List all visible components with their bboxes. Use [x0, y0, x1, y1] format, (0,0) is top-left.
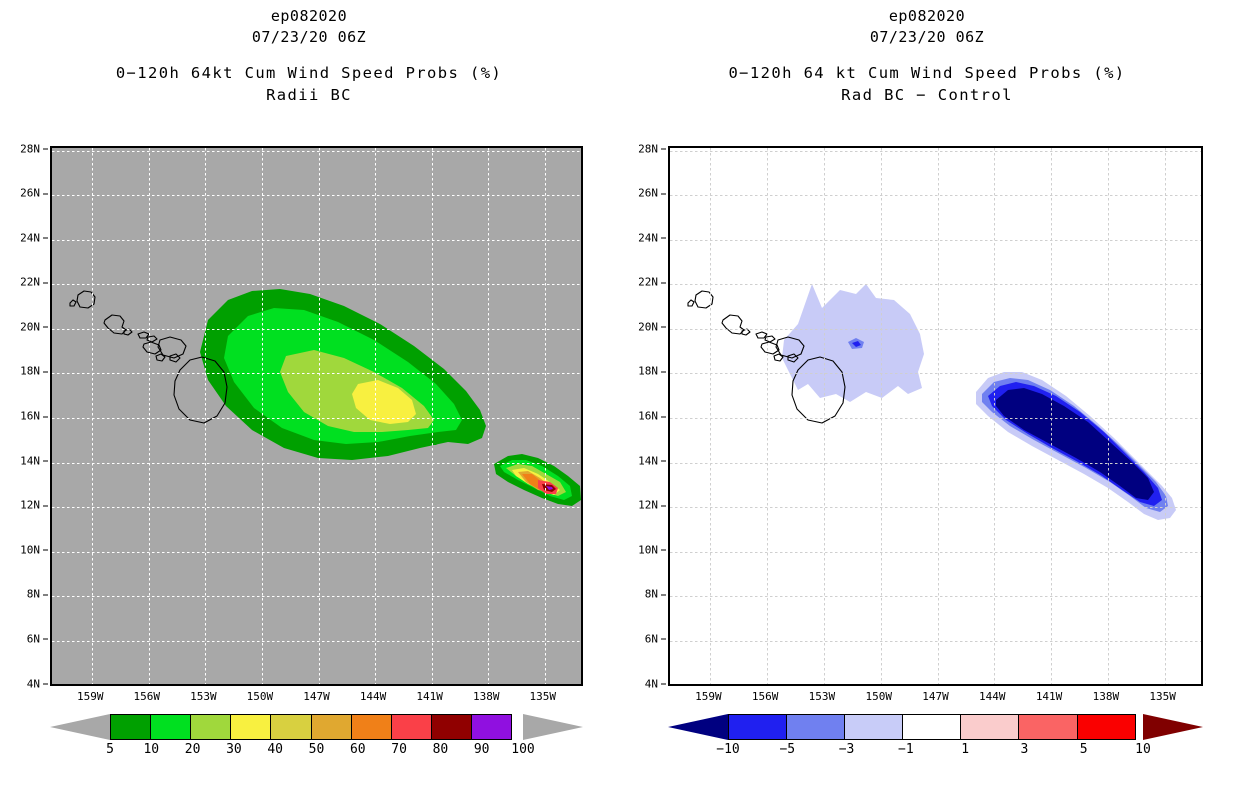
colorbar-swatch[interactable]	[230, 714, 271, 740]
left-storm-id: ep082020	[0, 6, 618, 27]
colorbar-over-arrow	[523, 714, 583, 740]
gridline-horizontal	[670, 686, 1201, 687]
y-axis-tick-label: 8N	[622, 588, 666, 601]
gridline-horizontal	[52, 641, 581, 642]
right-panel-titles: ep082020 07/23/20 06Z 0−120h 64 kt Cum W…	[618, 6, 1236, 106]
colorbar-tick-label: −1	[898, 742, 914, 757]
y-axis-tick-label: 8N	[4, 588, 48, 601]
colorbar-swatch[interactable]	[786, 714, 845, 740]
colorbar-tick-label: 5	[1080, 742, 1088, 757]
colorbar-swatch[interactable]	[902, 714, 961, 740]
gridline-horizontal	[52, 686, 581, 687]
y-axis-tick-label: 6N	[4, 632, 48, 645]
x-axis-tick-label: 150W	[247, 690, 274, 703]
colorbar-swatch[interactable]	[311, 714, 352, 740]
gridline-horizontal	[52, 552, 581, 553]
colorbar-under-arrow	[668, 714, 728, 740]
colorbar-under-arrow	[50, 714, 110, 740]
gridline-vertical	[92, 148, 93, 684]
y-axis-tick-label: 18N	[4, 365, 48, 378]
right-heading: 0−120h 64 kt Cum Wind Speed Probs (%)	[618, 62, 1236, 84]
x-axis-tick-label: 138W	[473, 690, 500, 703]
colorbar-swatch[interactable]	[1077, 714, 1136, 740]
y-axis-tick-label: 22N	[622, 276, 666, 289]
gridline-vertical	[767, 148, 768, 684]
gridline-vertical	[824, 148, 825, 684]
gridline-horizontal	[670, 507, 1201, 508]
x-axis-tick-label: 135W	[530, 690, 557, 703]
panel-radii-bc: ep082020 07/23/20 06Z 0−120h 64kt Cum Wi…	[0, 0, 618, 800]
gridline-horizontal	[52, 151, 581, 152]
colorbar-swatch[interactable]	[351, 714, 392, 740]
gridline-vertical	[994, 148, 995, 684]
gridline-horizontal	[670, 596, 1201, 597]
y-axis-tick-label: 24N	[622, 231, 666, 244]
colorbar-tick-label: 5	[106, 742, 114, 757]
gridline-vertical	[205, 148, 206, 684]
y-axis-tick-label: 16N	[622, 410, 666, 423]
colorbar-tick-label: 3	[1021, 742, 1029, 757]
colorbar-tick-label: 70	[391, 742, 407, 757]
gridline-vertical	[488, 148, 489, 684]
colorbar-swatch[interactable]	[728, 714, 787, 740]
y-axis-tick-label: 20N	[4, 320, 48, 333]
left-colorbar[interactable]: 5102030405060708090100	[50, 714, 583, 774]
colorbar-swatch[interactable]	[471, 714, 512, 740]
y-axis-tick-label: 26N	[622, 187, 666, 200]
gridline-horizontal	[52, 195, 581, 196]
right-map-plot-area[interactable]	[668, 146, 1203, 686]
x-axis-tick-label: 156W	[752, 690, 779, 703]
gridline-horizontal	[52, 284, 581, 285]
colorbar-tick-label: 90	[474, 742, 490, 757]
colorbar-tick-label: 20	[185, 742, 201, 757]
y-axis-tick-label: 4N	[4, 677, 48, 690]
x-axis-tick-label: 147W	[922, 690, 949, 703]
colorbar-tick-label: 60	[350, 742, 366, 757]
gridline-vertical	[1165, 148, 1166, 684]
colorbar-tick-label: 50	[309, 742, 325, 757]
y-axis-tick-label: 4N	[622, 677, 666, 690]
left-datetime: 07/23/20 06Z	[0, 27, 618, 48]
y-axis-tick-label: 12N	[4, 499, 48, 512]
left-map-plot-area[interactable]	[50, 146, 583, 686]
y-axis-tick-label: 12N	[622, 499, 666, 512]
x-axis-tick-label: 141W	[416, 690, 443, 703]
colorbar-swatch[interactable]	[1018, 714, 1077, 740]
left-panel-titles: ep082020 07/23/20 06Z 0−120h 64kt Cum Wi…	[0, 6, 618, 106]
gridline-horizontal	[52, 463, 581, 464]
colorbar-tick-label: −10	[716, 742, 739, 757]
colorbar-tick-label: −5	[779, 742, 795, 757]
panel-rad-bc-control: ep082020 07/23/20 06Z 0−120h 64 kt Cum W…	[618, 0, 1236, 800]
gridline-horizontal	[670, 240, 1201, 241]
colorbar-over-arrow	[1143, 714, 1203, 740]
x-axis-tick-label: 135W	[1149, 690, 1176, 703]
x-axis-tick-label: 153W	[809, 690, 836, 703]
y-axis-tick-label: 18N	[622, 365, 666, 378]
gridline-horizontal	[52, 507, 581, 508]
right-colorbar[interactable]: −10−5−3−113510	[668, 714, 1203, 774]
colorbar-swatch[interactable]	[431, 714, 472, 740]
y-axis-tick-label: 10N	[4, 543, 48, 556]
colorbar-tick-label: 1	[961, 742, 969, 757]
y-axis-tick-label: 24N	[4, 231, 48, 244]
colorbar-tick-label: 40	[267, 742, 283, 757]
gridline-horizontal	[670, 641, 1201, 642]
x-axis-tick-label: 153W	[190, 690, 217, 703]
colorbar-swatch[interactable]	[270, 714, 311, 740]
gridline-vertical	[1108, 148, 1109, 684]
x-axis-tick-label: 156W	[134, 690, 161, 703]
colorbar-tick-label: 80	[433, 742, 449, 757]
colorbar-swatch[interactable]	[391, 714, 432, 740]
left-contour-layer	[52, 148, 581, 684]
x-axis-tick-label: 159W	[695, 690, 722, 703]
colorbar-swatches[interactable]	[110, 714, 523, 740]
right-storm-id: ep082020	[618, 6, 1236, 27]
gridline-vertical	[375, 148, 376, 684]
y-axis-tick-label: 14N	[4, 454, 48, 467]
x-axis-tick-label: 144W	[979, 690, 1006, 703]
gridline-horizontal	[670, 151, 1201, 152]
right-datetime: 07/23/20 06Z	[618, 27, 1236, 48]
colorbar-tick-label: 30	[226, 742, 242, 757]
gridline-horizontal	[52, 596, 581, 597]
colorbar-tick-label: 100	[511, 742, 534, 757]
gridline-horizontal	[670, 418, 1201, 419]
gridline-vertical	[881, 148, 882, 684]
gridline-vertical	[938, 148, 939, 684]
colorbar-swatch[interactable]	[110, 714, 151, 740]
colorbar-swatch[interactable]	[844, 714, 903, 740]
x-axis-tick-label: 144W	[360, 690, 387, 703]
gridline-vertical	[262, 148, 263, 684]
gridline-horizontal	[670, 195, 1201, 196]
y-axis-tick-label: 14N	[622, 454, 666, 467]
gridline-horizontal	[670, 373, 1201, 374]
y-axis-tick-label: 20N	[622, 320, 666, 333]
gridline-vertical	[432, 148, 433, 684]
x-axis-tick-label: 147W	[303, 690, 330, 703]
gridline-horizontal	[52, 240, 581, 241]
y-axis-tick-label: 10N	[622, 543, 666, 556]
right-contour-layer	[670, 148, 1201, 684]
y-axis-tick-label: 6N	[622, 632, 666, 645]
gridline-horizontal	[670, 552, 1201, 553]
y-axis-tick-label: 28N	[622, 142, 666, 155]
left-heading: 0−120h 64kt Cum Wind Speed Probs (%)	[0, 62, 618, 84]
gridline-vertical	[1051, 148, 1052, 684]
colorbar-swatch[interactable]	[150, 714, 191, 740]
x-axis-tick-label: 138W	[1093, 690, 1120, 703]
gridline-horizontal	[52, 373, 581, 374]
gridline-horizontal	[52, 418, 581, 419]
gridline-vertical	[319, 148, 320, 684]
gridline-horizontal	[670, 284, 1201, 285]
gridline-vertical	[710, 148, 711, 684]
colorbar-swatches[interactable]	[728, 714, 1143, 740]
y-axis-tick-label: 26N	[4, 187, 48, 200]
gridline-horizontal	[670, 329, 1201, 330]
y-axis-tick-label: 28N	[4, 142, 48, 155]
colorbar-tick-label: 10	[1135, 742, 1151, 757]
gridline-horizontal	[52, 329, 581, 330]
colorbar-tick-label: −3	[839, 742, 855, 757]
colorbar-swatch[interactable]	[960, 714, 1019, 740]
y-axis-tick-label: 22N	[4, 276, 48, 289]
colorbar-swatch[interactable]	[190, 714, 231, 740]
x-axis-tick-label: 150W	[865, 690, 892, 703]
y-axis-tick-label: 16N	[4, 410, 48, 423]
x-axis-tick-label: 141W	[1036, 690, 1063, 703]
gridline-vertical	[149, 148, 150, 684]
colorbar-tick-label: 10	[143, 742, 159, 757]
x-axis-tick-label: 159W	[77, 690, 104, 703]
left-subheading: Radii BC	[0, 84, 618, 106]
right-subheading: Rad BC − Control	[618, 84, 1236, 106]
gridline-horizontal	[670, 463, 1201, 464]
gridline-vertical	[545, 148, 546, 684]
